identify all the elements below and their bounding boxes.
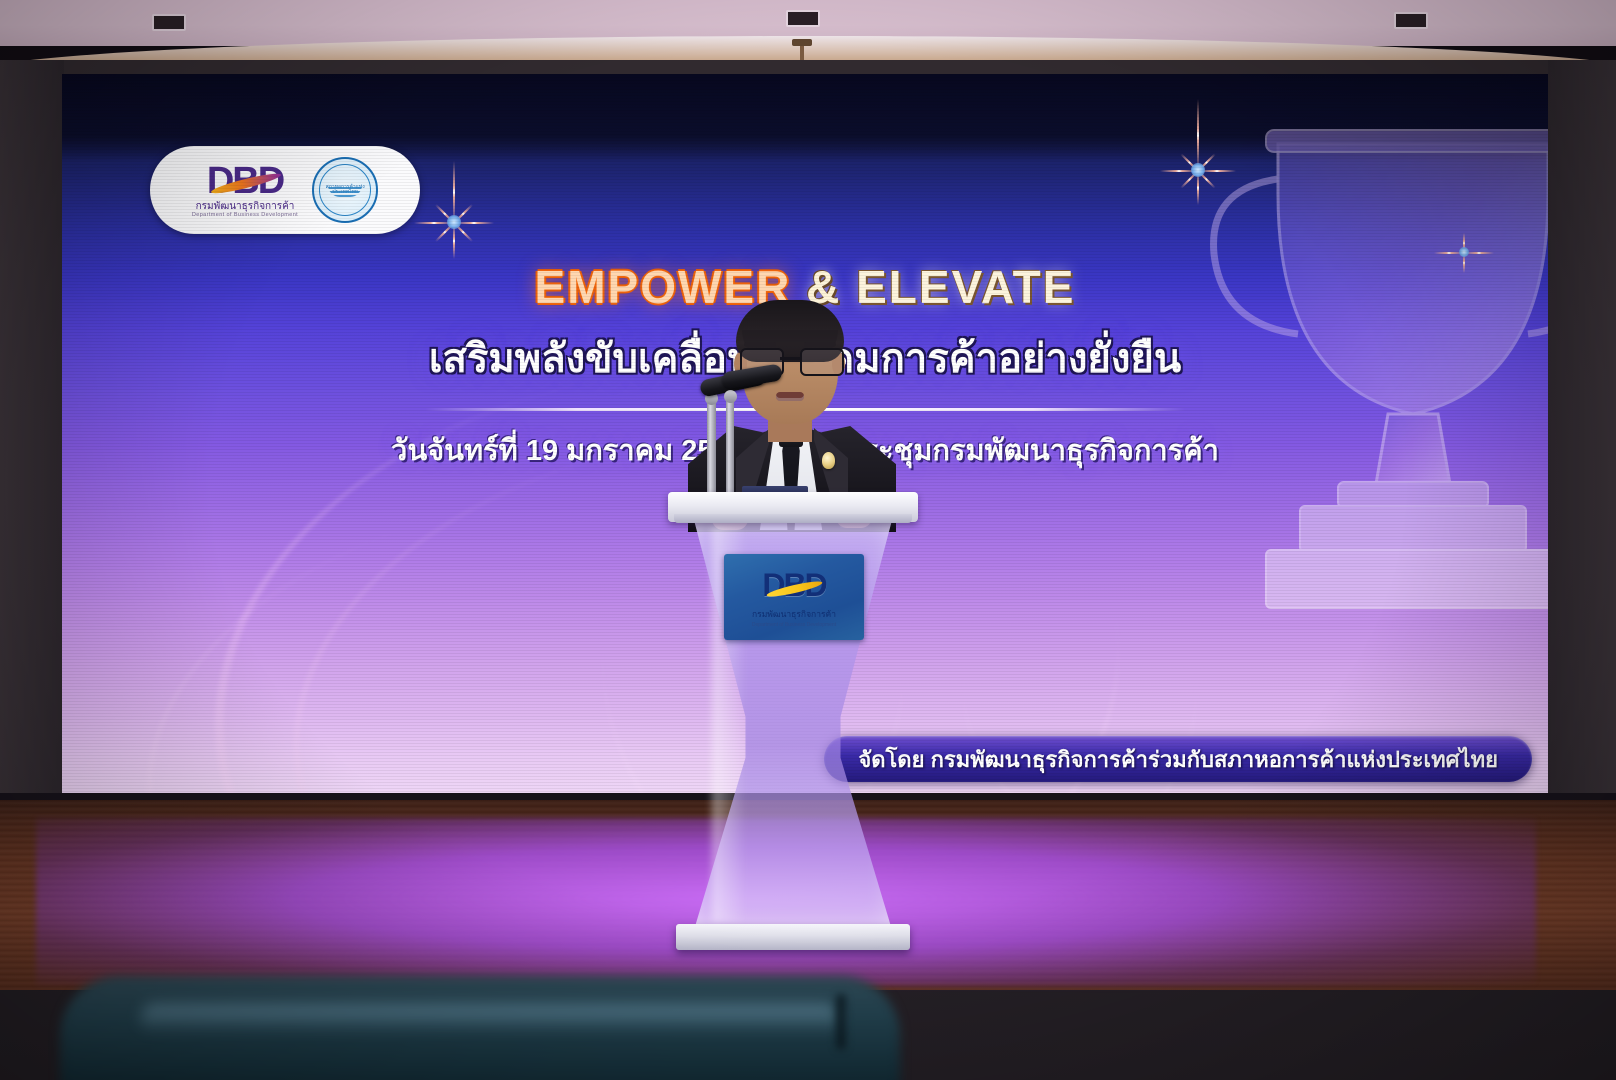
lectern-base [676, 924, 910, 950]
star-sparkle-icon [414, 182, 494, 262]
foreground-chair-seam [836, 994, 846, 1050]
dbd-logo: DBD กรมพัฒนาธุรกิจการค้า Department of B… [192, 162, 298, 219]
ceiling-light-icon [152, 14, 186, 31]
foreground-chair-highlight [140, 1004, 840, 1034]
dbd-thai-name: กรมพัฒนาธุรกิจการค้า [196, 202, 295, 212]
lectern-dbd-sign: DBD กรมพัฒนาธุรกิจการค้า Department of B… [724, 554, 864, 640]
wall-right-frame [1548, 60, 1616, 800]
organizer-banner: จัดโดย กรมพัฒนาธุรกิจการค้าร่วมกับสภาหอก… [824, 736, 1532, 782]
glasses-bridge [780, 357, 800, 360]
lapel-pin-icon [822, 452, 835, 469]
organizer-banner-text: จัดโดย กรมพัฒนาธุรกิจการค้าร่วมกับสภาหอก… [858, 742, 1498, 777]
star-sparkle-icon [1158, 130, 1238, 210]
lectern-top-lip [674, 514, 912, 523]
chamber-of-commerce-seal-icon: สภาหอการค้าแห่งประเทศไทย [312, 157, 378, 223]
ceiling-light-icon [786, 10, 820, 27]
lectern-dbd-wordmark: DBD [762, 567, 825, 604]
lectern: DBD กรมพัฒนาธุรกิจการค้า Department of B… [668, 492, 918, 964]
dbd-english-name: Department of Business Development [192, 213, 298, 219]
eyebrow-left [744, 342, 776, 347]
lectern-dbd-english: Department of Business Development [752, 622, 836, 628]
microphone-joint [724, 390, 737, 403]
lectern-dbd-thai: กรมพัฒนาธุรกิจการค้า [752, 607, 836, 621]
ceiling-light-icon [1394, 12, 1428, 29]
logo-plate: DBD กรมพัฒนาธุรกิจการค้า Department of B… [150, 146, 420, 234]
mouth [776, 392, 804, 401]
lens-right [800, 348, 844, 376]
wall-left-frame [0, 60, 64, 800]
seal-wave-icon [328, 185, 362, 197]
eyebrow-right [804, 342, 836, 347]
stage-photo: EMPOWER & ELEVATE เสริมพลังขับเคลื่อนสมา… [0, 0, 1616, 1080]
dbd-wordmark: DBD [207, 162, 283, 200]
